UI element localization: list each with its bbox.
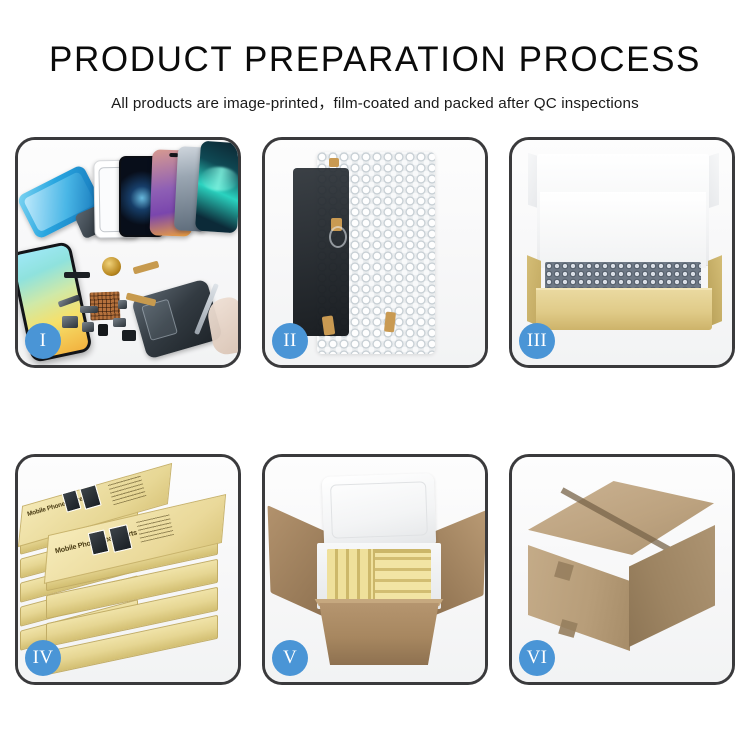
spare-part	[82, 322, 94, 332]
step-badge-3: III	[519, 323, 555, 359]
flex-cable-part-1	[133, 261, 160, 275]
step-badge-2: II	[272, 323, 308, 359]
white-foam-sheet	[540, 192, 706, 268]
kraft-box-front	[536, 290, 712, 330]
process-step-panel-6: VI	[509, 454, 735, 685]
gold-disc-part	[102, 257, 121, 276]
coiled-flex-connector	[329, 226, 347, 248]
step-badge-1: I	[25, 323, 61, 359]
process-step-panel-1: I	[15, 137, 241, 368]
wrapped-screen-assembly	[293, 168, 349, 336]
carton-tape-patch-lower	[558, 619, 578, 638]
page-subtitle: All products are image-printed，film-coat…	[0, 91, 750, 113]
process-step-panel-3: III	[509, 137, 735, 368]
carton-left-face	[528, 545, 630, 651]
spare-part	[62, 316, 78, 328]
page-header: PRODUCT PREPARATION PROCESS All products…	[0, 0, 750, 113]
process-step-grid: I II III	[15, 137, 735, 685]
spare-part	[118, 300, 127, 309]
step-badge-4: IV	[25, 640, 61, 676]
page-title: PRODUCT PREPARATION PROCESS	[0, 42, 750, 79]
step-badge-5: V	[272, 640, 308, 676]
spare-part	[80, 306, 98, 313]
foam-box-lid	[322, 473, 436, 549]
spare-part	[122, 330, 136, 341]
step-badge-6: VI	[519, 640, 555, 676]
tape-strip	[329, 158, 339, 167]
yellow-boxes-group-right	[375, 553, 431, 601]
spare-part	[98, 324, 108, 336]
foam-box-interior	[327, 549, 431, 601]
carton-front-panel	[311, 603, 447, 665]
process-step-panel-2: II	[262, 137, 488, 368]
process-step-panel-4: Mobile Phone Spare Parts Mobile Phone Sp…	[15, 454, 241, 685]
teal-wave-phone	[195, 141, 238, 234]
yellow-boxes-group-left	[327, 549, 373, 601]
spare-part	[64, 272, 90, 278]
process-step-panel-5: V	[262, 454, 488, 685]
tape-strip	[384, 312, 396, 333]
spare-part	[113, 318, 126, 327]
